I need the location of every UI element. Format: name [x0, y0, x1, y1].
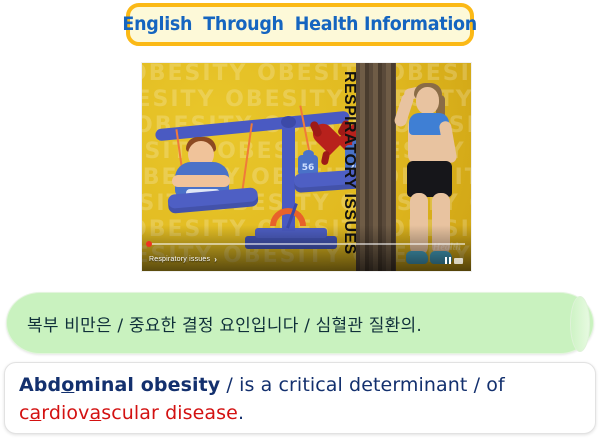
english-phrase-3: of	[486, 374, 505, 396]
slash-separator-2: /	[467, 374, 486, 396]
phrase4-part-b: rdiov	[41, 402, 89, 424]
title-box: EnglishThroughHealth Information	[126, 3, 474, 46]
video-bottom-gradient	[142, 225, 471, 271]
phrase4-part-c: scular disease	[101, 402, 238, 424]
english-sentence-text: Abdominal obesity / is a critical determ…	[19, 371, 585, 427]
english-phrase-4-red: cardiovascular disease	[19, 402, 238, 424]
phrase1-part-a: Abd	[19, 374, 61, 396]
video-progress-bar[interactable]	[148, 243, 465, 245]
english-sentence-box: Abdominal obesity / is a critical determ…	[4, 362, 596, 434]
korean-sentence-box: 복부 비만은 / 중요한 결정 요인입니다 / 심혈관 질환의.	[6, 292, 594, 354]
english-phrase-2: is a critical determinant	[239, 374, 467, 396]
phrase1-part-b: minal obesity	[74, 374, 220, 396]
page-title: EnglishThroughHealth Information	[123, 15, 478, 34]
scale-pivot	[281, 116, 296, 128]
video-caption[interactable]: Respiratory issues ›	[149, 255, 217, 264]
slash-separator-1: /	[220, 374, 239, 396]
chevron-right-icon: ›	[214, 255, 217, 264]
video-caption-text: Respiratory issues	[149, 256, 210, 263]
title-banner: EnglishThroughHealth Information	[0, 0, 600, 55]
phrase4-part-a: c	[19, 402, 30, 424]
phrase4-underlined-vowel-1: a	[30, 402, 42, 424]
sentence-period: .	[238, 402, 244, 424]
title-word-health-information: Health Information	[295, 13, 477, 35]
figure-arm	[172, 175, 230, 187]
korean-sentence-text: 복부 비만은 / 중요한 결정 요인입니다 / 심혈관 질환의.	[7, 311, 422, 336]
video-controls[interactable]	[445, 257, 463, 264]
person-head	[416, 87, 439, 114]
more-controls-icon[interactable]	[454, 258, 463, 264]
korean-box-right-cap	[570, 296, 590, 352]
english-phrase-1: Abdominal obesity	[19, 374, 220, 396]
video-progress-handle[interactable]	[146, 241, 152, 247]
video-thumbnail[interactable]: OBESITY OBESITY OBESITY OBESITY OBESITY …	[142, 63, 471, 271]
phrase4-underlined-vowel-2: a	[89, 402, 101, 424]
person-shorts	[407, 161, 452, 197]
phrase1-underlined-vowel: o	[61, 374, 74, 396]
title-word-through: Through	[204, 13, 284, 35]
respiratory-issues-label: RESPIRATORY ISSUES	[340, 71, 358, 251]
pause-icon[interactable]	[445, 257, 451, 264]
title-word-english: English	[123, 13, 193, 35]
